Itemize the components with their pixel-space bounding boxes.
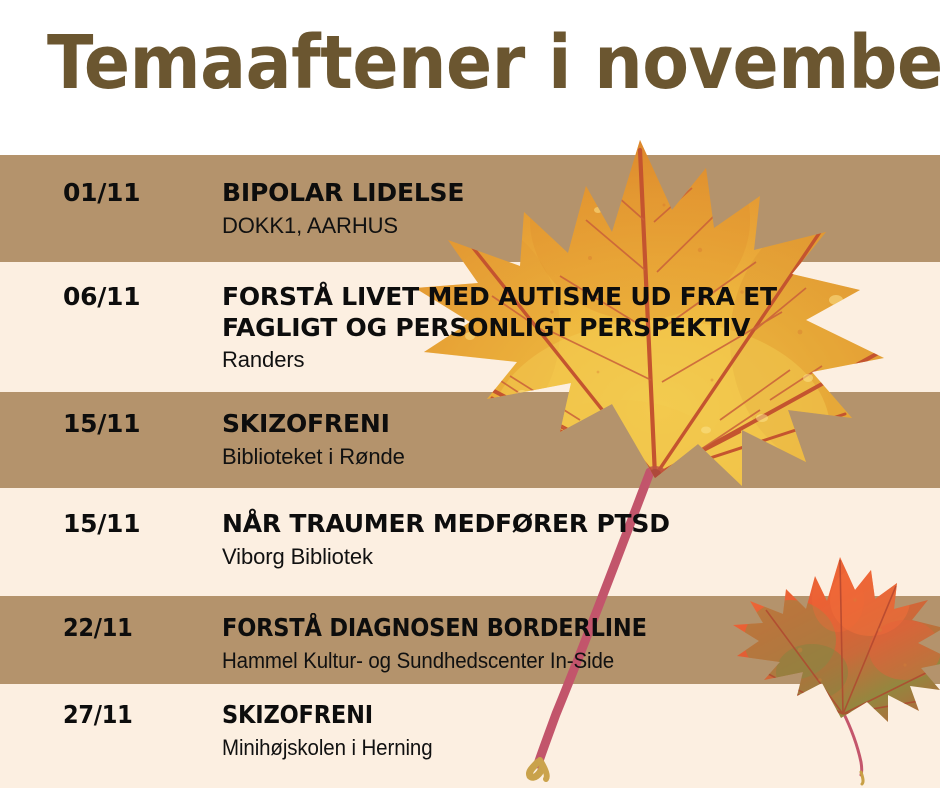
row-venue: Minihøjskolen i Herning	[222, 734, 880, 762]
row-title: SKIZOFRENI	[222, 700, 859, 731]
row-body: BIPOLAR LIDELSE DOKK1, AARHUS	[222, 178, 930, 239]
row-body: SKIZOFRENI Minihøjskolen i Herning	[222, 700, 930, 761]
row-title: FORSTÅ DIAGNOSEN BORDERLINE	[222, 613, 859, 644]
row-venue: Viborg Bibliotek	[222, 543, 930, 571]
row-body: SKIZOFRENI Biblioteket i Rønde	[222, 409, 930, 470]
row-body: FORSTÅ LIVET MED AUTISME UD FRA ET FAGLI…	[222, 282, 930, 374]
row-date: 15/11	[63, 509, 140, 538]
row-body: NÅR TRAUMER MEDFØRER PTSD Viborg Bibliot…	[222, 509, 930, 570]
row-venue: DOKK1, AARHUS	[222, 212, 930, 240]
row-venue: Randers	[222, 346, 930, 374]
row-date: 15/11	[63, 409, 140, 438]
row-venue: Biblioteket i Rønde	[222, 443, 930, 471]
row-title: FORSTÅ LIVET MED AUTISME UD FRA ET	[222, 282, 930, 313]
schedule-list: 01/11 BIPOLAR LIDELSE DOKK1, AARHUS 06/1…	[0, 0, 940, 788]
row-body: FORSTÅ DIAGNOSEN BORDERLINE Hammel Kultu…	[222, 613, 930, 674]
row-date: 27/11	[63, 700, 132, 729]
row-title: NÅR TRAUMER MEDFØRER PTSD	[222, 509, 930, 540]
row-date: 06/11	[63, 282, 140, 311]
poster-canvas: Temaaftener i november 01/11 BIPOLAR LID…	[0, 0, 940, 788]
row-title-line2: FAGLIGT OG PERSONLIGT PERSPEKTIV	[222, 313, 930, 344]
row-title: BIPOLAR LIDELSE	[222, 178, 930, 209]
row-title: SKIZOFRENI	[222, 409, 930, 440]
row-venue: Hammel Kultur- og Sundhedscenter In-Side	[222, 647, 880, 675]
row-date: 01/11	[63, 178, 140, 207]
row-date: 22/11	[63, 613, 132, 642]
